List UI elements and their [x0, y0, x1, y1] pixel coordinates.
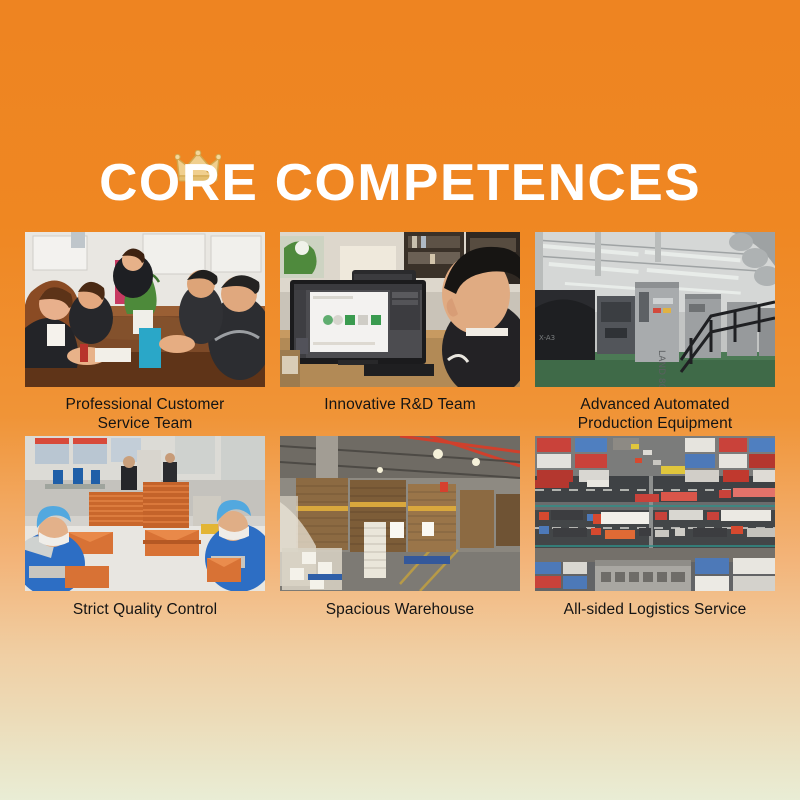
- card-caption: All-sided Logistics Service: [535, 600, 775, 619]
- card-caption: Spacious Warehouse: [280, 600, 520, 619]
- printing-press-factory-photo: LAND 800 X-A3: [535, 232, 775, 387]
- workers-inspecting-boxes-photo: [25, 436, 265, 591]
- page-title: CORE COMPETENCES: [99, 152, 701, 214]
- card-caption: Professional Customer Service Team: [25, 395, 265, 433]
- competence-grid: Professional Customer Service Team: [25, 232, 775, 619]
- svg-text:LAND 800: LAND 800: [656, 350, 666, 387]
- poster-root: CORE COMPETENCES: [0, 0, 800, 800]
- competence-card[interactable]: Professional Customer Service Team: [25, 232, 265, 433]
- title-block: CORE COMPETENCES: [0, 152, 800, 214]
- meeting-room-photo: [25, 232, 265, 387]
- designer-at-computer-photo: [280, 232, 520, 387]
- card-caption: Advanced Automated Production Equipment: [535, 395, 775, 433]
- svg-text:X-A3: X-A3: [539, 334, 555, 342]
- card-caption: Innovative R&D Team: [280, 395, 520, 414]
- competence-card[interactable]: Innovative R&D Team: [280, 232, 520, 433]
- warehouse-pallets-photo: [280, 436, 520, 591]
- competence-card[interactable]: Spacious Warehouse: [280, 436, 520, 619]
- competence-card[interactable]: All-sided Logistics Service: [535, 436, 775, 619]
- card-caption: Strict Quality Control: [25, 600, 265, 619]
- aerial-container-port-photo: [535, 436, 775, 591]
- competence-card[interactable]: LAND 800 X-A3: [535, 232, 775, 433]
- competence-card[interactable]: Strict Quality Control: [25, 436, 265, 619]
